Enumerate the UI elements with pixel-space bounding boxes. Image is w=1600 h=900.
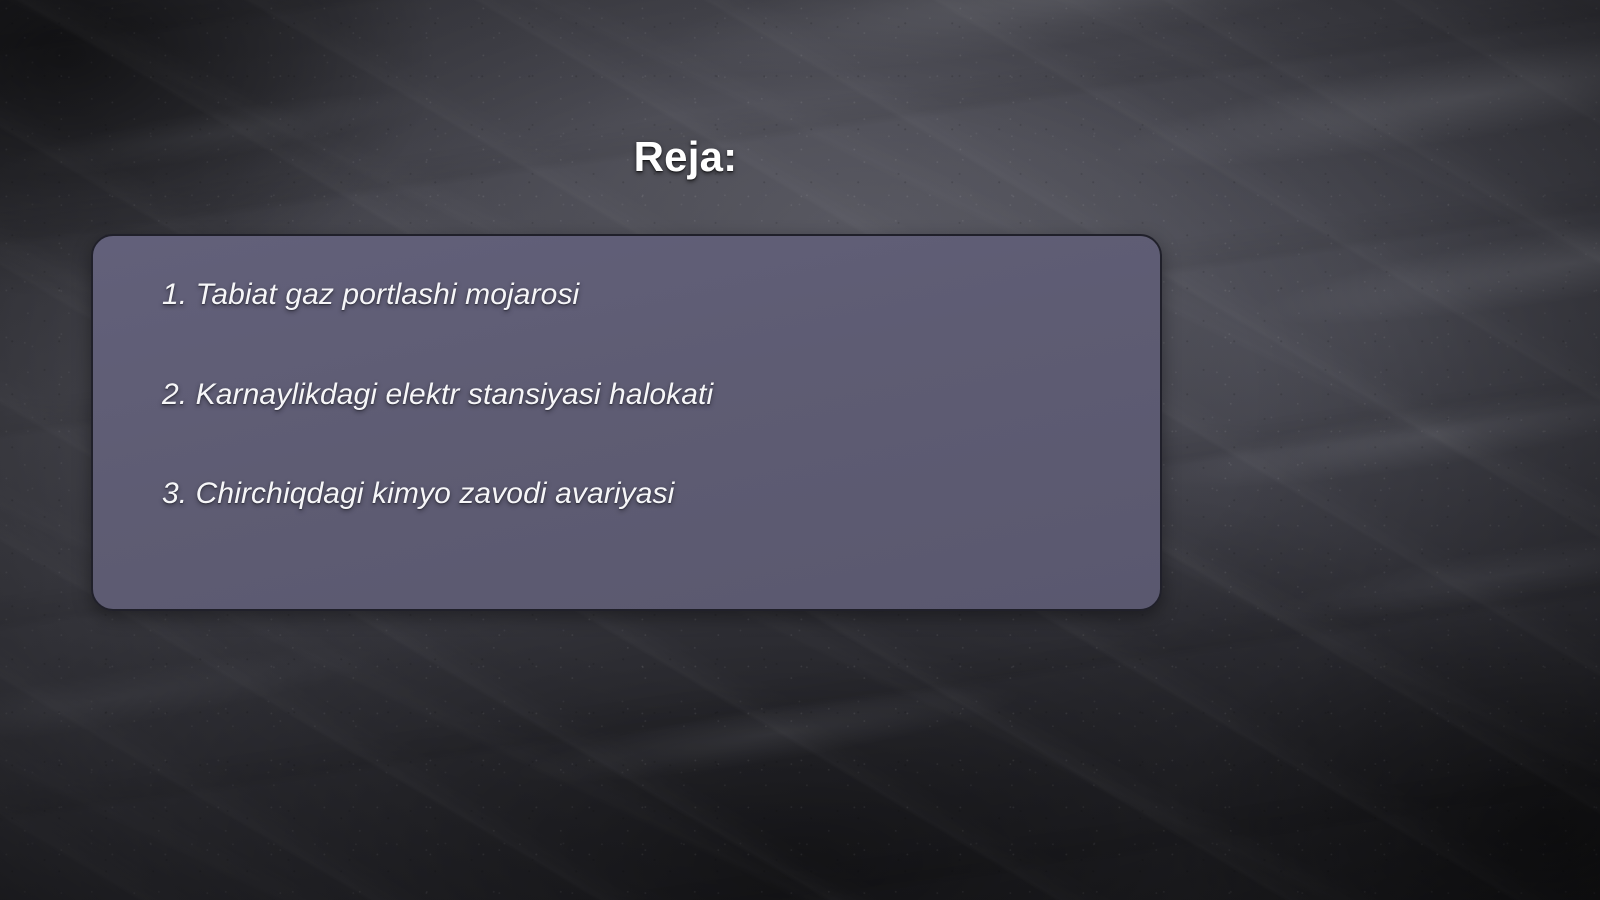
list-item: 3. Chirchiqdagi kimyo zavodi avariyasi [162, 478, 1136, 510]
plan-list: 1. Tabiat gaz portlashi mojarosi 2. Karn… [162, 279, 1136, 510]
slide-content: Reja: 1. Tabiat gaz portlashi mojarosi 2… [0, 0, 1600, 900]
presentation-slide: Reja: 1. Tabiat gaz portlashi mojarosi 2… [0, 0, 1600, 900]
page-title: Reja: [0, 133, 1371, 181]
list-item: 1. Tabiat gaz portlashi mojarosi [162, 279, 1136, 311]
plan-card: 1. Tabiat gaz portlashi mojarosi 2. Karn… [91, 234, 1162, 611]
list-item: 2. Karnaylikdagi elektr stansiyasi halok… [162, 379, 1136, 411]
